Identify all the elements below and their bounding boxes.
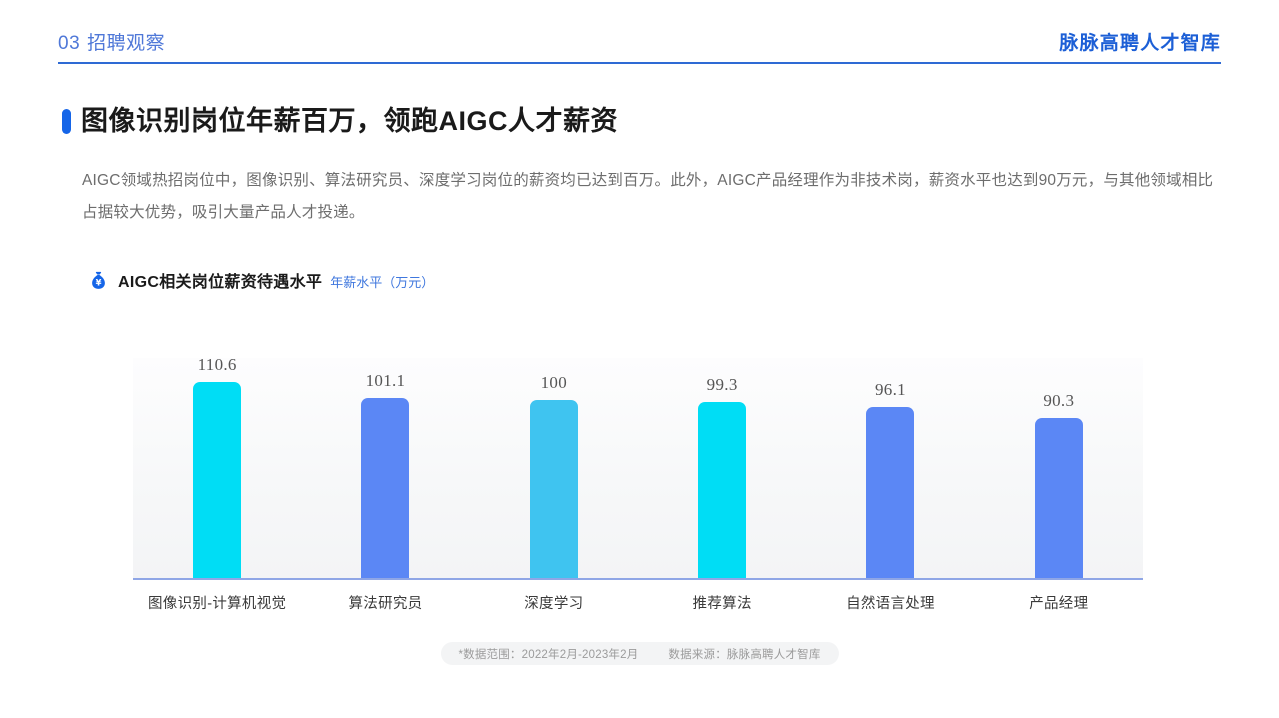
chart-caption-sub: 年薪水平（万元）: [330, 272, 434, 291]
chart-bar: [1035, 418, 1083, 578]
chart-bar-group: 110.6: [133, 322, 301, 578]
chart-x-label: 自然语言处理: [806, 592, 974, 613]
chart-x-label: 深度学习: [470, 592, 638, 613]
body-paragraph: AIGC领域热招岗位中，图像识别、算法研究员、深度学习岗位的薪资均已达到百万。此…: [82, 165, 1228, 229]
slide-root: 03招聘观察 脉脉高聘人才智库 图像识别岗位年薪百万，领跑AIGC人才薪资 AI…: [0, 0, 1279, 718]
section-label: 招聘观察: [87, 33, 165, 54]
chart-x-labels: 图像识别-计算机视觉算法研究员深度学习推荐算法自然语言处理产品经理: [133, 592, 1143, 613]
bar-value-label: 99.3: [707, 375, 738, 395]
chart-x-label: 算法研究员: [301, 592, 469, 613]
footnote-data-range: *数据范围：2022年2月-2023年2月: [458, 646, 638, 662]
chart-bar-group: 96.1: [806, 322, 974, 578]
bar-value-label: 100: [541, 373, 567, 393]
chart-bar-group: 99.3: [638, 322, 806, 578]
bar-value-label: 90.3: [1043, 391, 1074, 411]
section-breadcrumb: 03招聘观察: [58, 28, 165, 55]
chart-bar: [530, 400, 578, 578]
chart-bars: 110.6101.110099.396.190.3: [133, 322, 1143, 578]
bar-value-label: 96.1: [875, 380, 906, 400]
chart-bar: [698, 402, 746, 578]
chart-caption: ¥ AIGC相关岗位薪资待遇水平 年薪水平（万元）: [88, 268, 434, 292]
section-number: 03: [58, 33, 80, 54]
chart-bar-group: 90.3: [975, 322, 1143, 578]
chart-caption-main: AIGC相关岗位薪资待遇水平: [118, 268, 322, 292]
header-divider: [58, 62, 1221, 64]
chart-bar: [866, 407, 914, 578]
bar-value-label: 101.1: [366, 371, 406, 391]
svg-text:¥: ¥: [96, 277, 102, 287]
page-title: 图像识别岗位年薪百万，领跑AIGC人才薪资: [62, 103, 618, 139]
bar-value-label: 110.6: [198, 355, 237, 375]
bar-chart: 110.6101.110099.396.190.3: [133, 322, 1143, 580]
slide-header: 03招聘观察 脉脉高聘人才智库: [58, 28, 1221, 66]
chart-bar: [361, 398, 409, 578]
chart-bar-group: 101.1: [301, 322, 469, 578]
chart-x-label: 图像识别-计算机视觉: [133, 592, 301, 613]
chart-bar-group: 100: [470, 322, 638, 578]
footnote-data-source: 数据来源：脉脉高聘人才智库: [668, 646, 820, 662]
title-accent-bar: [62, 109, 71, 134]
chart-x-axis-line: [133, 578, 1143, 580]
brand-logo-text: 脉脉高聘人才智库: [1059, 28, 1221, 55]
money-bag-icon: ¥: [88, 270, 109, 291]
title-text: 图像识别岗位年薪百万，领跑AIGC人才薪资: [81, 108, 618, 135]
footnote-pill: *数据范围：2022年2月-2023年2月 数据来源：脉脉高聘人才智库: [440, 642, 838, 665]
chart-bar: [193, 382, 241, 578]
chart-x-label: 产品经理: [975, 592, 1143, 613]
chart-x-label: 推荐算法: [638, 592, 806, 613]
